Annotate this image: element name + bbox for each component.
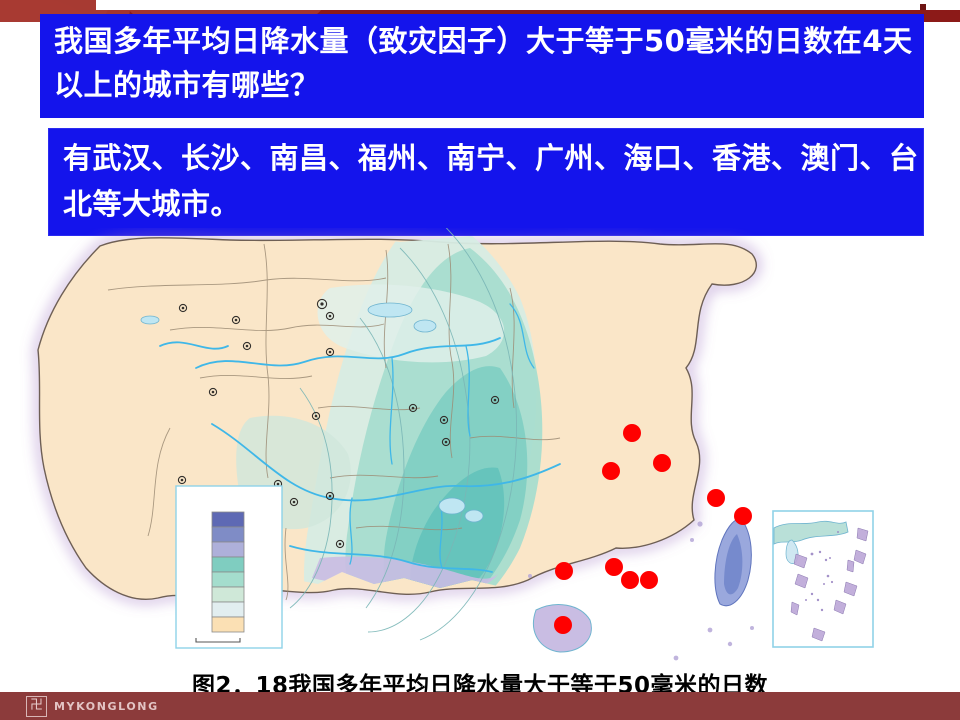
city-marker-dot: 广州: [605, 558, 623, 576]
legend-band: [212, 557, 244, 572]
legend-band: [212, 542, 244, 557]
watermark: 卍 MYKONGLONG: [26, 696, 159, 716]
legend-band: [212, 617, 244, 632]
question-text-box: 我国多年平均日降水量（致灾因子）大于等于50毫米的日数在4天以上的城市有哪些？: [40, 14, 924, 118]
legend-band: [212, 602, 244, 617]
map-figure: 武汉长沙南昌福州台北南宁广州香港澳门海口: [0, 228, 960, 668]
nanhai-inset-map: [772, 510, 874, 648]
city-marker-dot: 海口: [554, 616, 572, 634]
header-corner-dot: [920, 4, 926, 10]
city-marker-dot: 福州: [707, 489, 725, 507]
header-white-strip: [96, 0, 960, 10]
legend-band: [212, 527, 244, 542]
answer-text-box: 有武汉、长沙、南昌、福州、南宁、广州、海口、香港、澳门、台北等大城市。: [48, 128, 924, 236]
watermark-logo-icon: 卍: [26, 696, 47, 717]
legend-band: [212, 572, 244, 587]
slide: 我国多年平均日降水量（致灾因子）大于等于50毫米的日数在4天以上的城市有哪些？ …: [0, 0, 960, 720]
legend-band: [212, 512, 244, 527]
map-legend: [176, 486, 282, 648]
city-marker-dot: 武汉: [623, 424, 641, 442]
city-marker-dot: 香港: [621, 571, 639, 589]
taiwan-island: [715, 519, 751, 606]
city-marker-dot: 台北: [734, 507, 752, 525]
footer-band: 卍 MYKONGLONG: [0, 692, 960, 720]
city-marker-dot: 长沙: [602, 462, 620, 480]
city-marker-dot: 南昌: [653, 454, 671, 472]
watermark-text: MYKONGLONG: [54, 700, 159, 713]
legend-band: [212, 587, 244, 602]
city-marker-dot: 澳门: [640, 571, 658, 589]
city-marker-dot: 南宁: [555, 562, 573, 580]
